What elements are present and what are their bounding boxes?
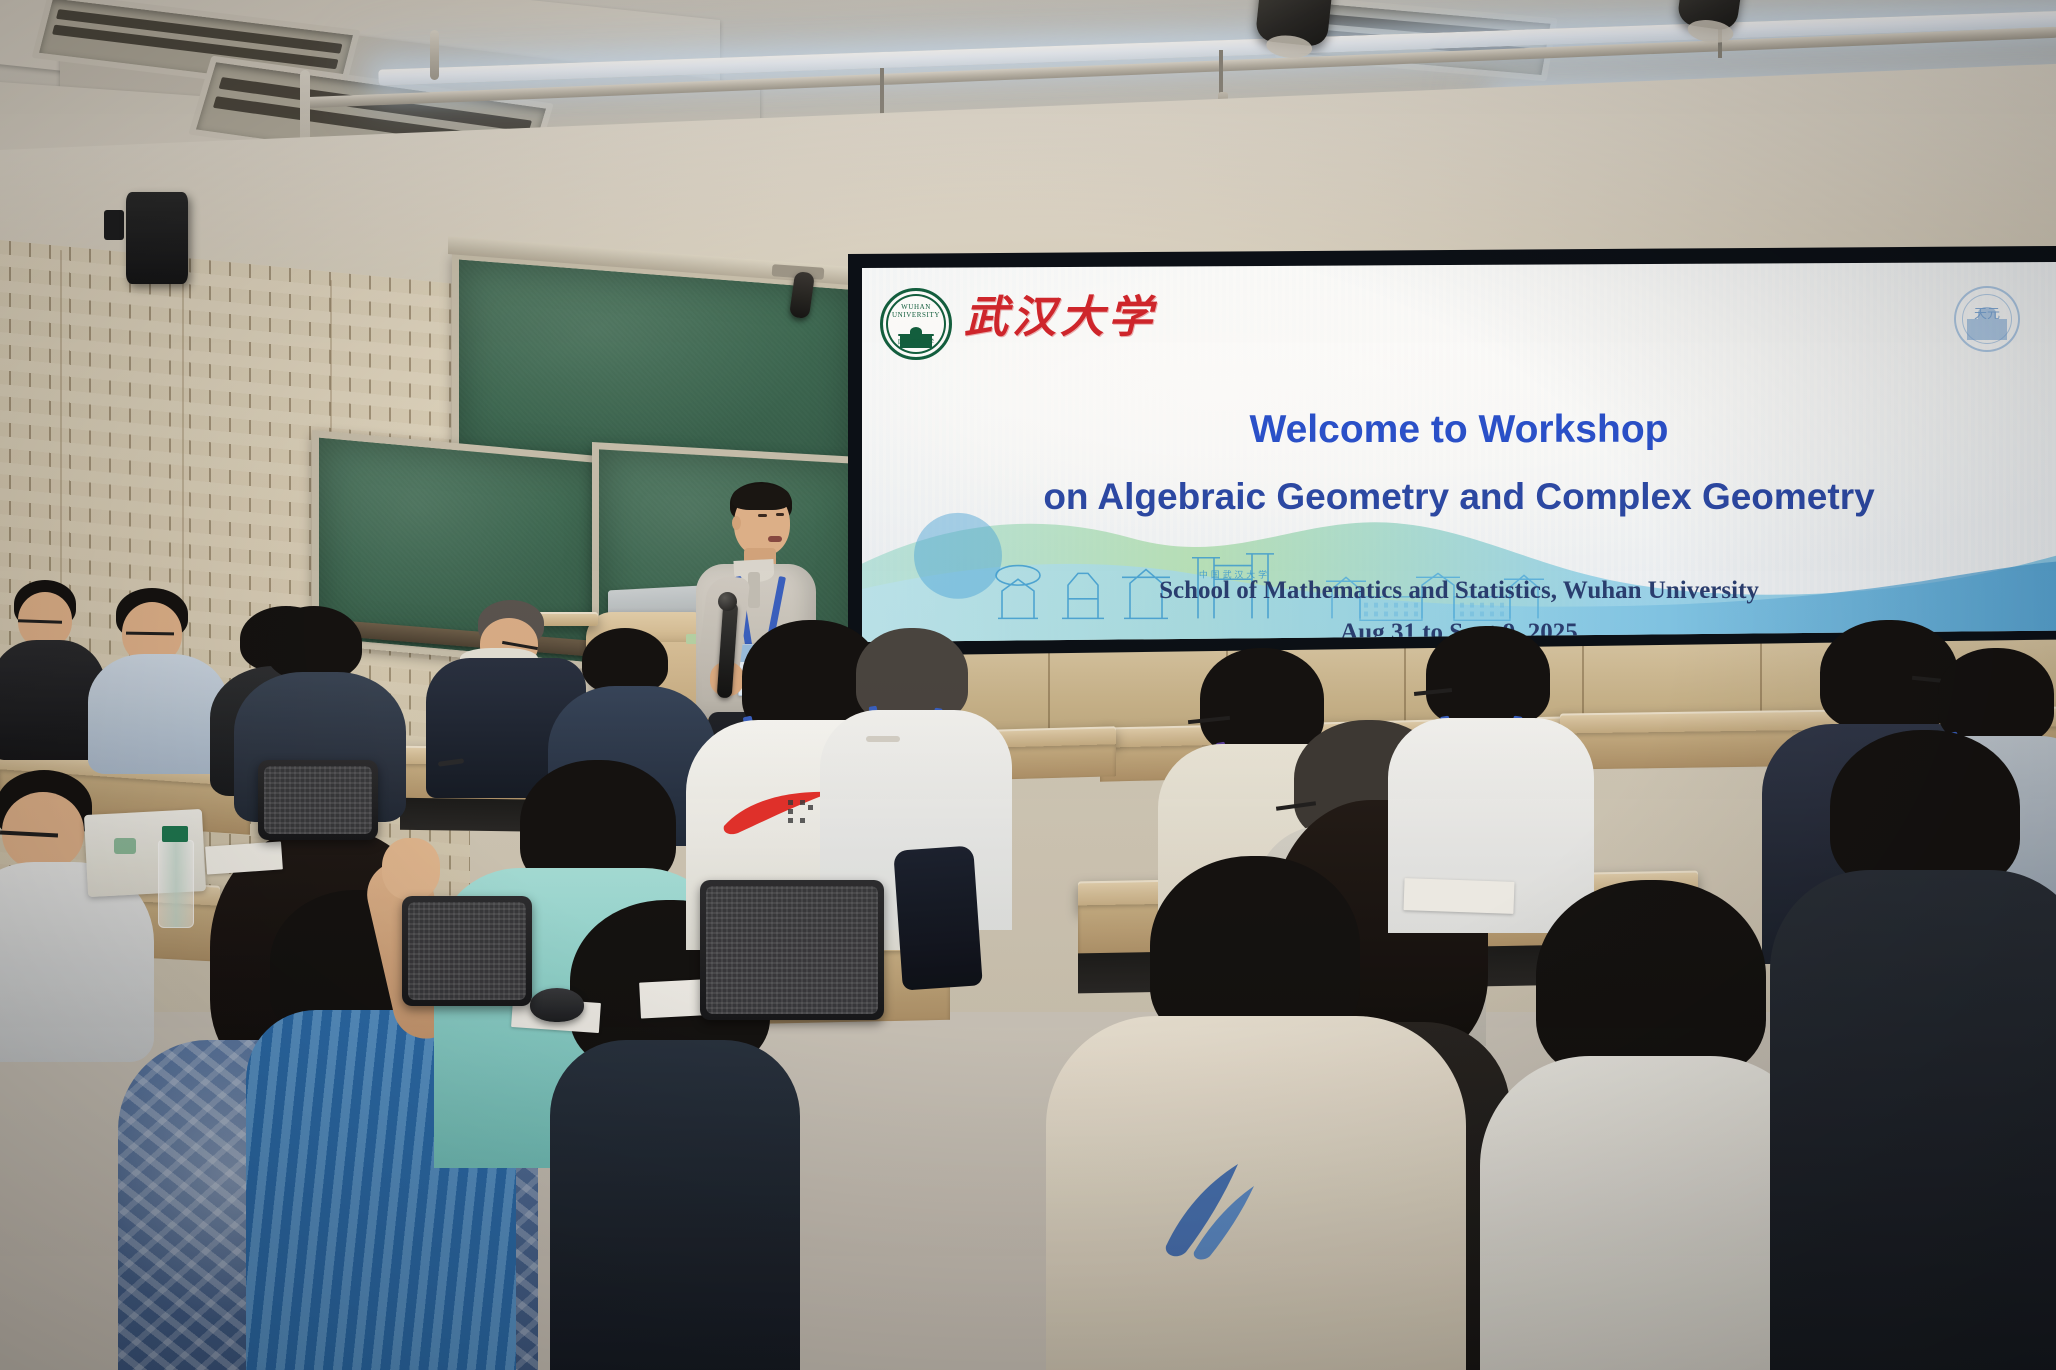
torso [88, 654, 228, 774]
microphone-head [718, 592, 737, 611]
presenter-ear [732, 516, 741, 530]
presenter-eye [776, 513, 784, 516]
pipe-hanger [1219, 50, 1223, 96]
chair [700, 880, 884, 1020]
presenter-placket [748, 572, 760, 608]
chair [258, 760, 378, 840]
speaker-wall-mount [104, 210, 124, 240]
backpack [893, 845, 983, 990]
slide-subtitle: on Algebraic Geometry and Complex Geomet… [862, 476, 2056, 518]
bottle-cap [162, 826, 188, 842]
slide-organization: School of Mathematics and Statistics, Wu… [862, 577, 2056, 605]
hair [266, 606, 362, 680]
seal-arc-text: WUHAN UNIVERSITY [892, 303, 940, 319]
bag-print [114, 838, 136, 854]
hair [1426, 626, 1550, 726]
water-bottle [158, 840, 194, 928]
computer-mouse [530, 988, 584, 1022]
presenter-mouth [768, 536, 782, 542]
wall-speaker [126, 192, 188, 284]
torso [1480, 1056, 1820, 1370]
presenter-eye [758, 514, 767, 517]
university-name-cn: 武汉大学 [964, 288, 1156, 348]
paper-sheet [205, 841, 283, 874]
hair [1536, 880, 1766, 1080]
audience-member [1046, 856, 1466, 1370]
pipe-hanger [880, 68, 884, 118]
torso [1770, 870, 2056, 1370]
presentation-slide: 中 国 武 汉 大 学 [862, 262, 2056, 642]
audience-member [1800, 730, 2056, 1370]
wuhan-university-seal: WUHAN UNIVERSITY 国立武汉大学 [880, 288, 952, 360]
wall-conduit-pipe [430, 30, 439, 80]
paper-sheet [1403, 878, 1514, 914]
audience-member [1500, 880, 1800, 1370]
ceiling-spotlight [1255, 0, 1334, 48]
hair [1830, 730, 2020, 890]
presenter-hair-fringe [732, 484, 790, 510]
hair [582, 628, 668, 694]
chair [402, 896, 532, 1006]
slide-title: Welcome to Workshop [862, 408, 2056, 452]
marker-pen [866, 736, 900, 742]
shirt-graphic-icon [1146, 1156, 1286, 1266]
torso [550, 1040, 800, 1370]
audience-member [96, 588, 226, 768]
lecture-hall-photo: 中 国 武 汉 大 学 [0, 0, 2056, 1370]
tianyuan-center-seal: 天元 [1954, 286, 2020, 352]
seal-bottom-text: 国立武汉大学 [892, 337, 940, 346]
